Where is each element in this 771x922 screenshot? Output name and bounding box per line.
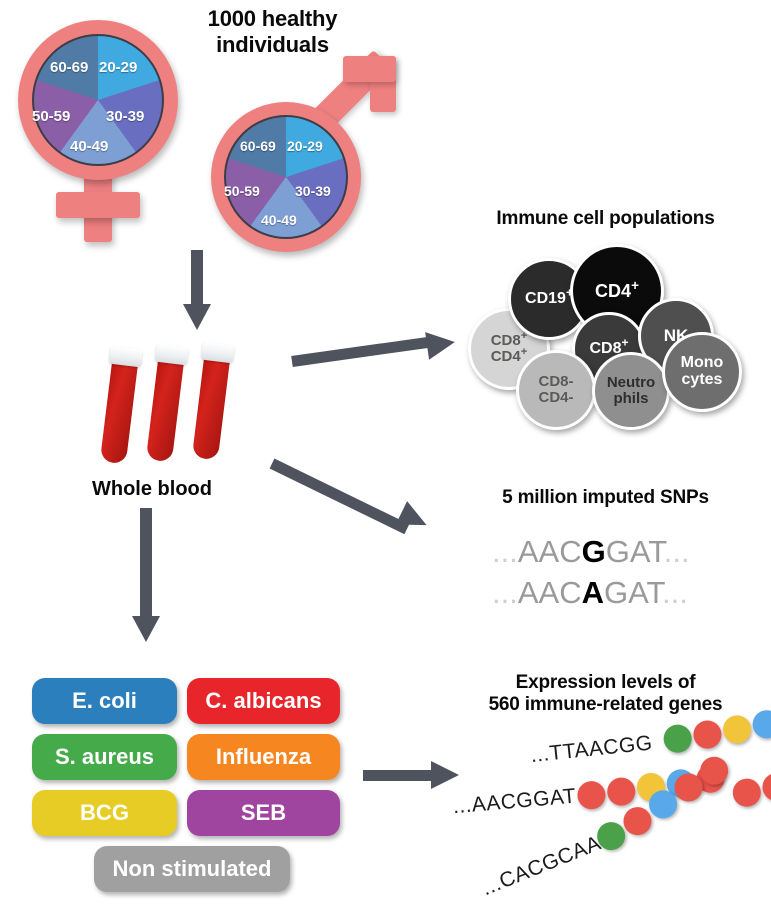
tube-body: [192, 354, 230, 460]
stimulation-chip-seb[interactable]: SEB: [187, 790, 340, 836]
expression-bead: [606, 776, 636, 806]
tube-cap: [155, 344, 189, 366]
immune-cell-cd8n-cd4n[interactable]: CD8-CD4-: [516, 350, 596, 430]
female-slice-label-60-69: 60-69: [50, 59, 88, 76]
male-slice-label-40-49: 40-49: [261, 212, 297, 228]
snp-prefix: ...: [492, 575, 518, 610]
immune-cell-neutrophils[interactable]: Neutrophils: [592, 352, 670, 430]
arrow-blood-to-immune: [292, 330, 467, 380]
blood-tubes-group: [108, 338, 288, 478]
expression-bead: [576, 780, 606, 810]
section-title-immune-cells: Immune cell populations: [440, 208, 771, 230]
male-slice-label-30-39: 30-39: [295, 183, 331, 199]
male-slice-label-60-69: 60-69: [240, 138, 276, 154]
arrow-cohort-to-blood: [183, 250, 213, 330]
immune-cell-cluster: CD8+CD4+ CD19+ CD4+ CD8+ NK CD8-CD4- Neu…: [460, 240, 760, 420]
expression-strand-1-sequence: ...TTAACGG: [529, 731, 653, 768]
expression-bead: [662, 723, 693, 754]
section-title-snp: 5 million imputed SNPs: [440, 487, 771, 509]
cohort-title-line1: 1000 healthy: [208, 6, 338, 32]
figure-canvas: 1000 healthy individuals 20-29 30-39 40-…: [0, 0, 771, 922]
expression-bead: [692, 719, 723, 750]
female-slice-label-50-59: 50-59: [32, 108, 70, 125]
expression-strand-3-sequence: ...CACGCAA: [479, 832, 605, 902]
stimulation-chip-influenza[interactable]: Influenza: [187, 734, 340, 780]
snp-allele-2: ...AACAGAT...: [492, 575, 688, 611]
tube-cap: [109, 346, 143, 368]
arrow-blood-to-stimulation: [130, 508, 170, 648]
stimulation-panel: E. coli C. albicans S. aureus Influenza …: [32, 678, 342, 898]
snp-left: AAC: [518, 534, 582, 569]
snp-variant-g: G: [582, 534, 606, 569]
expression-strands-group: ...TTAACGG ...AACGGAT ...CACGCAA: [455, 740, 771, 915]
stimulation-chip-s-aureus[interactable]: S. aureus: [32, 734, 177, 780]
female-slice-label-30-39: 30-39: [106, 108, 144, 125]
expression-title-line1: Expression levels of: [516, 672, 696, 694]
expression-bead: [761, 772, 771, 802]
female-stem-cross: [56, 192, 140, 218]
male-slice-label-50-59: 50-59: [224, 183, 260, 199]
arrow-blood-to-snp: [272, 452, 467, 552]
section-title-expression: Expression levels of 560 immune-related …: [440, 672, 771, 717]
snp-right: GAT: [604, 575, 662, 610]
male-arrow-head-h: [343, 56, 396, 82]
snp-allele-1: ...AACGGAT...: [492, 534, 690, 570]
male-symbol: 20-29 30-39 40-49 50-59 60-69: [205, 70, 420, 250]
expression-strand-2-sequence: ...AACGGAT: [452, 785, 577, 820]
snp-suffix: ...: [664, 534, 690, 569]
male-slice-label-20-29: 20-29: [287, 138, 323, 154]
immune-cell-monocytes[interactable]: Monocytes: [662, 332, 742, 412]
expression-title-line2: 560 immune-related genes: [489, 694, 723, 716]
tube-body: [100, 358, 138, 464]
expression-bead: [722, 714, 753, 745]
expression-bead: [732, 777, 762, 807]
female-slice-label-40-49: 40-49: [70, 138, 108, 155]
stimulation-chip-bcg[interactable]: BCG: [32, 790, 177, 836]
tube-cap: [201, 342, 235, 364]
tube-body: [146, 356, 184, 462]
female-symbol: 20-29 30-39 40-49 50-59 60-69: [10, 14, 210, 244]
stimulation-chip-c-albicans[interactable]: C. albicans: [187, 678, 340, 724]
snp-prefix: ...: [492, 534, 518, 569]
snp-right: GAT: [606, 534, 664, 569]
snp-variant-a: A: [582, 575, 604, 610]
stimulation-chip-e-coli[interactable]: E. coli: [32, 678, 177, 724]
whole-blood-label: Whole blood: [92, 478, 212, 501]
female-slice-label-20-29: 20-29: [99, 59, 137, 76]
stimulation-chip-non-stimulated[interactable]: Non stimulated: [94, 846, 290, 892]
snp-suffix: ...: [662, 575, 688, 610]
cohort-title-line2: individuals: [216, 32, 329, 58]
snp-left: AAC: [518, 575, 582, 610]
